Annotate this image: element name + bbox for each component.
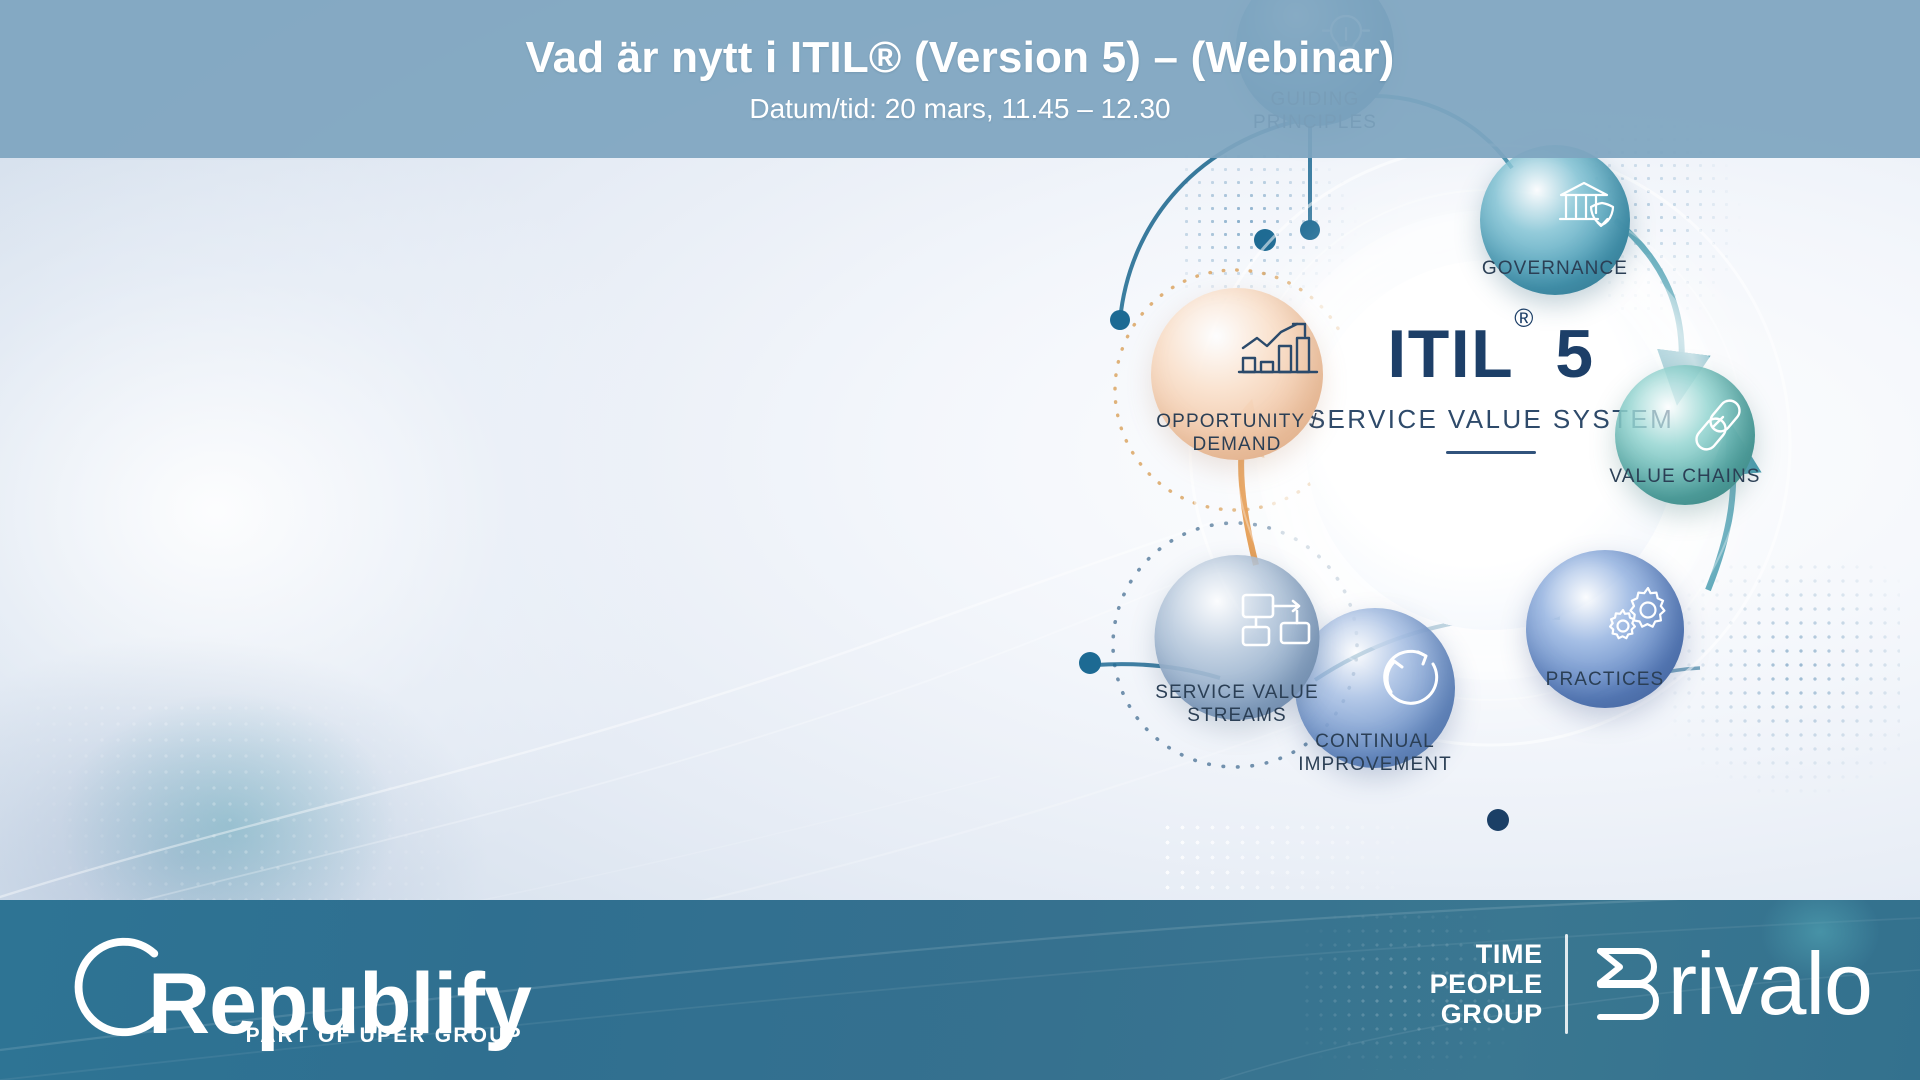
practices-label-line1: PRACTICES (1546, 668, 1665, 691)
practices-label: PRACTICES (1546, 668, 1665, 691)
itil-divider (1446, 451, 1536, 454)
brivalo-wordmark: rivalo (1668, 944, 1872, 1023)
node-service-value-streams: SERVICE VALUE STREAMS (1122, 555, 1352, 765)
tpg-line-1: TIME (1430, 939, 1543, 969)
service-value-streams-label: SERVICE VALUE STREAMS (1155, 681, 1319, 727)
itil-brand-text: ITIL (1387, 316, 1514, 392)
governance-label: GOVERNANCE (1482, 257, 1628, 280)
node-value-chains: VALUE CHAINS (1580, 365, 1790, 555)
logo-divider (1565, 934, 1568, 1034)
brivalo-logo: rivalo (1590, 943, 1872, 1025)
opportunity-demand-label: OPPORTUNITY / DEMAND (1156, 410, 1317, 456)
page-subtitle: Datum/tid: 20 mars, 11.45 – 12.30 (749, 93, 1170, 125)
republify-tagline: PART OF UPER GROUP (246, 1024, 523, 1048)
page-title: Vad är nytt i ITIL® (Version 5) – (Webin… (525, 33, 1394, 84)
republify-logo[interactable]: Republify PART OF UPER GROUP (52, 928, 531, 1046)
node-practices: PRACTICES (1505, 550, 1705, 740)
governance-label-line1: GOVERNANCE (1482, 257, 1628, 280)
node-opportunity-demand: OPPORTUNITY / DEMAND (1122, 288, 1352, 488)
opportunity-demand-label-line1: OPPORTUNITY / (1156, 410, 1317, 433)
opportunity-demand-label-line2: DEMAND (1156, 433, 1317, 456)
brivalo-b-icon (1590, 943, 1666, 1025)
halftone-dots-left (30, 700, 450, 900)
time-people-group-logo: TIME PEOPLE GROUP (1430, 939, 1565, 1030)
footer-bar: Republify PART OF UPER GROUP TIME PEOPLE… (0, 900, 1920, 1080)
value-chains-label: VALUE CHAINS (1609, 465, 1760, 488)
tpg-line-3: GROUP (1430, 999, 1543, 1029)
webinar-banner: ITIL® 5 SERVICE VALUE SYSTEM GUIDING PRI… (0, 0, 1920, 1080)
header-bar: Vad är nytt i ITIL® (Version 5) – (Webin… (0, 0, 1920, 158)
node-governance: GOVERNANCE (1460, 145, 1650, 325)
service-value-streams-label-line1: SERVICE VALUE (1155, 681, 1319, 704)
service-value-streams-label-line2: STREAMS (1155, 704, 1319, 727)
value-chains-label-line1: VALUE CHAINS (1609, 465, 1760, 488)
partner-logos[interactable]: TIME PEOPLE GROUP rivalo (1430, 934, 1872, 1034)
tpg-line-2: PEOPLE (1430, 969, 1543, 999)
